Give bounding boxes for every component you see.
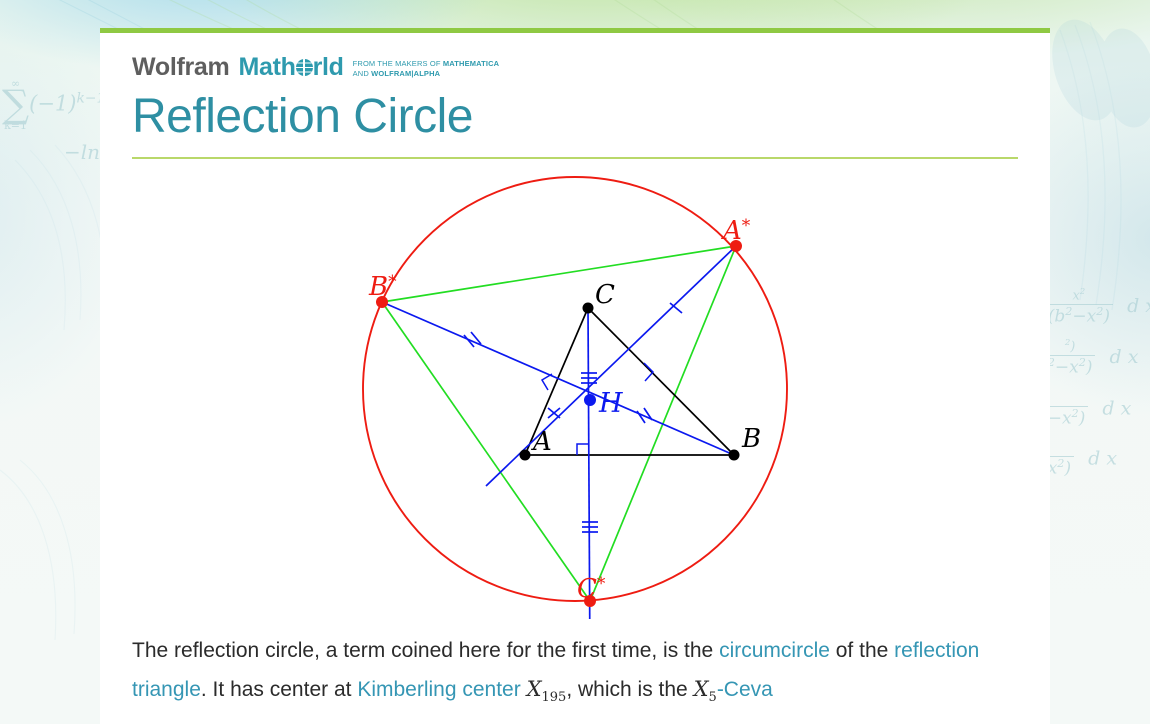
triangle-edge-BC [588, 308, 734, 455]
body-segment-1: The reflection circle, a term coined her… [132, 639, 719, 662]
tagline-line2-plain: AND [353, 69, 372, 78]
background-formula-row: −x2) d x [1043, 391, 1150, 428]
title-divider [132, 157, 1018, 159]
math-x195: X195 [527, 677, 567, 701]
logo-mathworld-text: Mathrld [238, 55, 343, 80]
right-angle-mark-AB [577, 444, 588, 455]
summation-symbol: ∞ ∑ k=1 [2, 78, 29, 132]
logo-wolfram-text: Wolfram [132, 55, 229, 80]
tick-double-right-1 [637, 411, 645, 423]
reference-triangle [525, 308, 734, 455]
label-A: A [531, 427, 552, 457]
math-x5-sub: 5 [709, 690, 717, 705]
body-segment-2: of the [830, 639, 894, 662]
point-B [729, 449, 740, 460]
sum-term: (−1) [29, 92, 76, 116]
background-formula-right: x2 (b2−x2) d x 2) 2−x2) d x −x2) d x x2)… [1043, 288, 1150, 491]
body-segment-3: . It has center at [201, 678, 357, 701]
page-title: Reflection Circle [132, 89, 1018, 146]
label-B-star: B* [368, 272, 397, 302]
tagline-line-1: FROM THE MAKERS OF MATHEMATICA [353, 59, 500, 68]
math-x195-sub: 195 [542, 690, 567, 705]
tagline-line-2: AND WOLFRAM|ALPHA [353, 69, 441, 78]
sum-glyph: ∑ [2, 89, 29, 120]
point-H [584, 394, 596, 406]
link-ceva[interactable]: -Ceva [717, 678, 773, 701]
altitude-lines [382, 246, 736, 619]
math-x5: X5 [694, 677, 717, 701]
tagline-line1-bold: MATHEMATICA [443, 59, 499, 68]
logo-math-text: Math [238, 55, 295, 80]
site-header[interactable]: Wolfram Mathrld FROM THE MAKERS OF MATHE… [132, 55, 1018, 85]
background-formula-row: x2) d x [1043, 441, 1150, 478]
label-A-star: A* [721, 216, 751, 246]
site-tagline: FROM THE MAKERS OF MATHEMATICA AND WOLFR… [353, 59, 500, 80]
right-angle-mark-AC [542, 374, 552, 390]
sum-lower-limit: k=1 [2, 120, 29, 132]
background-formula-row: 2) 2−x2) d x [1043, 339, 1150, 377]
reflection-circle-diagram: A B C H A* B* C* [345, 167, 805, 619]
background-formula-left: ∞ ∑ k=1 (−1)k−1 −ln [2, 78, 105, 165]
label-H: H [598, 388, 623, 419]
point-C [583, 302, 594, 313]
altitude-C-to-Cstar [588, 308, 590, 619]
body-segment-4: , which is the [566, 678, 693, 701]
background-formula-row: x2 (b2−x2) d x [1043, 288, 1150, 326]
body-paragraph: The reflection circle, a term coined her… [132, 631, 1018, 717]
math-x5-var: X [694, 677, 709, 701]
label-B: B [741, 424, 761, 454]
label-C: C [595, 280, 615, 310]
point-A [520, 449, 531, 460]
link-circumcircle[interactable]: circumcircle [719, 639, 830, 662]
link-kimberling-center[interactable]: Kimberling center [357, 678, 520, 701]
reflection-edge-AsBs [382, 246, 736, 302]
globe-icon [296, 59, 313, 76]
logo-world-text: rld [313, 55, 344, 80]
tagline-line2-bold: WOLFRAM|ALPHA [371, 69, 440, 78]
figure-container: A B C H A* B* C* [132, 167, 1018, 629]
math-x195-var: X [527, 677, 542, 701]
content-card: Wolfram Mathrld FROM THE MAKERS OF MATHE… [100, 28, 1050, 724]
tagline-line1-plain: FROM THE MAKERS OF [353, 59, 443, 68]
